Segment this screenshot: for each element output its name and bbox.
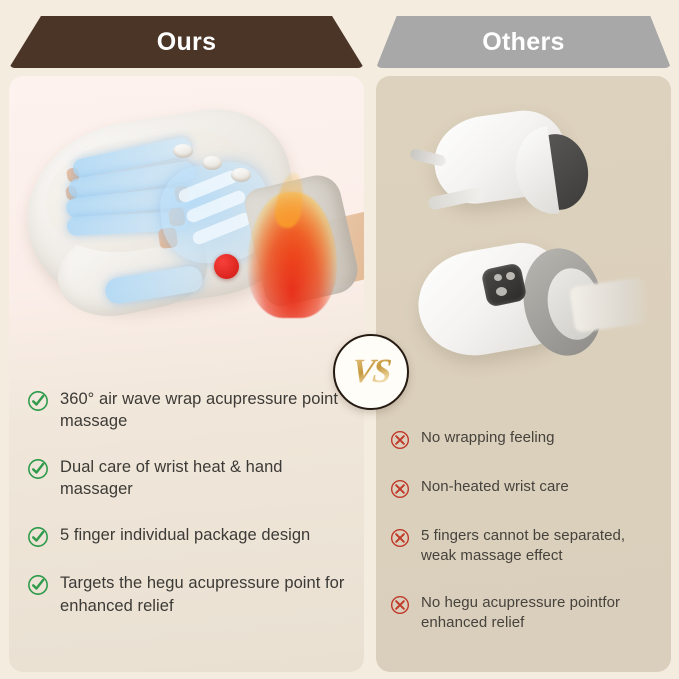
competitor-device-two-button-icon xyxy=(496,287,507,296)
list-item: 360° air wave wrap acupressure point mas… xyxy=(27,388,348,432)
feature-text: 5 fingers cannot be separated, weak mass… xyxy=(421,526,657,566)
hegu-acupressure-point-marker xyxy=(214,254,239,279)
x-circle-icon xyxy=(390,595,410,615)
control-button-icon xyxy=(231,168,251,182)
competitor-device-two-button-icon xyxy=(506,272,515,280)
check-circle-icon xyxy=(27,458,49,480)
feature-text: Dual care of wrist heat & hand massager xyxy=(60,456,348,500)
feature-text: 360° air wave wrap acupressure point mas… xyxy=(60,388,348,432)
feature-list-others: No wrapping feeling Non-heated wrist car… xyxy=(376,428,671,633)
tab-ours[interactable]: Ours xyxy=(9,16,364,68)
versus-label: VS xyxy=(350,353,392,391)
tab-others-label: Others xyxy=(482,28,564,57)
feature-text: No hegu acupressure pointfor enhanced re… xyxy=(421,593,657,633)
list-item: 5 finger individual package design xyxy=(27,524,348,548)
versus-badge-icon: VS xyxy=(333,334,409,410)
panel-others: No wrapping feeling Non-heated wrist car… xyxy=(376,76,671,672)
panel-ours: 360° air wave wrap acupressure point mas… xyxy=(9,76,364,672)
check-circle-icon xyxy=(27,390,49,412)
feature-list-ours: 360° air wave wrap acupressure point mas… xyxy=(9,388,364,617)
list-item: Targets the hegu acupressure point for e… xyxy=(27,572,348,616)
check-circle-icon xyxy=(27,574,49,596)
competitor-device-two-button-icon xyxy=(494,274,502,281)
x-circle-icon xyxy=(390,479,410,499)
control-button-icon xyxy=(173,144,193,158)
list-item: Dual care of wrist heat & hand massager xyxy=(27,456,348,500)
list-item: 5 fingers cannot be separated, weak mass… xyxy=(390,526,657,566)
comparison-infographic: Ours Others xyxy=(0,0,679,679)
feature-text: Non-heated wrist care xyxy=(421,477,569,497)
list-item: No hegu acupressure pointfor enhanced re… xyxy=(390,593,657,633)
product-image-others xyxy=(376,76,671,416)
list-item: Non-heated wrist care xyxy=(390,477,657,499)
tab-ours-label: Ours xyxy=(157,28,217,57)
x-circle-icon xyxy=(390,430,410,450)
check-circle-icon xyxy=(27,526,49,548)
control-button-icon xyxy=(202,156,222,170)
feature-text: 5 finger individual package design xyxy=(60,524,310,546)
product-image-ours xyxy=(9,76,364,376)
x-circle-icon xyxy=(390,528,410,548)
tab-others[interactable]: Others xyxy=(376,16,671,68)
feature-text: No wrapping feeling xyxy=(421,428,555,448)
list-item: No wrapping feeling xyxy=(390,428,657,450)
feature-text: Targets the hegu acupressure point for e… xyxy=(60,572,348,616)
competitor-device-two-arm xyxy=(569,277,649,333)
